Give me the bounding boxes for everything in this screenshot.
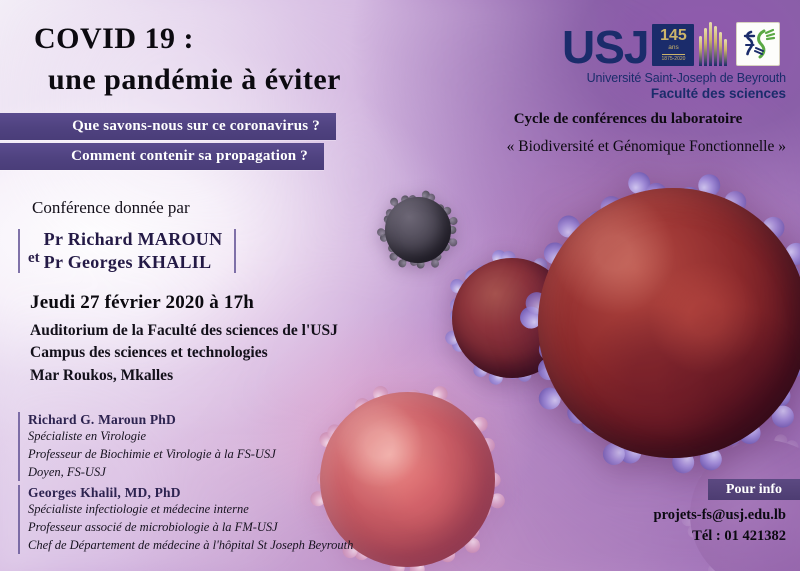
usj-logo: USJ 145 ans 1875-2020 — [562, 22, 786, 101]
info-badge: Pour info — [708, 479, 800, 500]
science-dna-icon — [736, 22, 780, 66]
venue-line-1: Auditorium de la Faculté des sciences de… — [30, 320, 338, 342]
logo-university-name: Université Saint-Joseph de Beyrouth — [562, 71, 786, 85]
contact-phone[interactable]: Tél : 01 421382 — [654, 526, 786, 547]
page-title: COVID 19 : une pandémie à éviter — [34, 22, 464, 98]
speaker-names: Pr Richard MAROUN Pr Georges KHALIL — [44, 228, 223, 273]
usj-acronym: USJ — [562, 26, 648, 68]
venue-line-2: Campus des sciences et technologies — [30, 342, 338, 364]
event-venue: Auditorium de la Faculté des sciences de… — [30, 320, 338, 387]
bio-line: Professeur associé de microbiologie à la… — [28, 519, 353, 537]
anniversary-number: 145 — [660, 28, 687, 44]
logo-faculty-name: Faculté des sciences — [562, 86, 786, 101]
venue-line-3: Mar Roukos, Mkalles — [30, 365, 338, 387]
bio-line: Chef de Département de médecine à l'hôpi… — [28, 537, 353, 555]
title-line-1: COVID 19 : — [34, 22, 464, 57]
virus-core — [385, 197, 451, 263]
bio-line: Spécialiste infectiologie et médecine in… — [28, 501, 353, 519]
cedar-stalks-icon — [698, 22, 732, 66]
logo-row: USJ 145 ans 1875-2020 — [562, 22, 786, 68]
bio-name: Georges Khalil, MD, PhD — [28, 485, 353, 501]
conference-cycle-label: Cycle de conférences du laboratoire — [470, 111, 786, 128]
speakers-connector: et — [20, 250, 44, 267]
accent-bar — [18, 485, 20, 554]
question-banner-1: Que savons-nous sur ce coronavirus ? — [0, 113, 336, 140]
coronavirus-particle-small-grey-icon — [385, 197, 451, 263]
contact-email[interactable]: projets-fs@usj.edu.lb — [654, 505, 786, 526]
virus-core — [538, 188, 800, 458]
conference-by-label: Conférence donnée par — [32, 198, 190, 218]
event-date: Jeudi 27 février 2020 à 17h — [30, 292, 254, 314]
accent-bar — [18, 412, 20, 481]
title-line-2: une pandémie à éviter — [48, 63, 464, 98]
bio-name: Richard G. Maroun PhD — [28, 412, 276, 428]
accent-rule-left — [18, 229, 20, 273]
accent-rule-right — [234, 229, 236, 273]
conference-poster: COVID 19 : une pandémie à éviter Que sav… — [0, 0, 800, 571]
speaker-name-2: Pr Georges KHALIL — [44, 251, 223, 274]
question-banner-2: Comment contenir sa propagation ? — [0, 143, 324, 170]
bio-line: Doyen, FS-USJ — [28, 464, 276, 482]
anniversary-word: ans — [668, 44, 678, 52]
speaker-name-1: Pr Richard MAROUN — [44, 228, 223, 251]
bio-line: Professeur de Biochimie et Virologie à l… — [28, 446, 276, 464]
coronavirus-particle-large-red-icon — [538, 188, 800, 458]
speaker-bio-1: Richard G. Maroun PhD Spécialiste en Vir… — [18, 412, 276, 481]
bio-line: Spécialiste en Virologie — [28, 428, 276, 446]
speaker-bio-2: Georges Khalil, MD, PhD Spécialiste infe… — [18, 485, 353, 554]
laboratory-name: « Biodiversité et Génomique Fonctionnell… — [470, 136, 786, 158]
speakers-block: et Pr Richard MAROUN Pr Georges KHALIL — [18, 228, 236, 273]
anniversary-years: 1875-2020 — [662, 54, 686, 62]
contact-info: projets-fs@usj.edu.lb Tél : 01 421382 — [654, 505, 786, 546]
anniversary-badge-icon: 145 ans 1875-2020 — [652, 24, 694, 66]
